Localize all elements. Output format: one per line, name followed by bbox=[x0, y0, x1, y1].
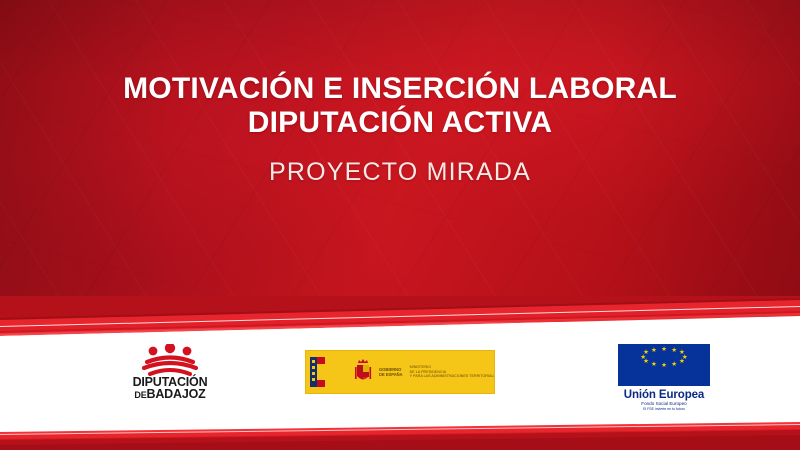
badajoz-label-line-2: DEBADAJOZ bbox=[122, 389, 218, 401]
presentation-slide: MOTIVACIÓN E INSERCIÓN LABORAL DIPUTACIÓ… bbox=[0, 0, 800, 450]
slide-subtitle: PROYECTO MIRADA bbox=[0, 158, 800, 187]
badajoz-label-de: DE bbox=[134, 390, 146, 400]
slide-title-line-1: MOTIVACIÓN E INSERCIÓN LABORAL bbox=[0, 72, 800, 106]
coat-of-arms-icon bbox=[352, 357, 374, 387]
diputacion-de-badajoz-logo: DIPUTACIÓN DEBADAJOZ bbox=[122, 344, 218, 406]
footer-red-band bbox=[0, 412, 800, 450]
title-block: MOTIVACIÓN E INSERCIÓN LABORAL DIPUTACIÓ… bbox=[0, 72, 800, 187]
eu-logo-tagline: El FSE invierte en tu futuro bbox=[618, 407, 710, 412]
badajoz-label-badajoz: BADAJOZ bbox=[147, 387, 206, 401]
badajoz-figures-icon bbox=[122, 344, 218, 376]
ministerio-block: MINISTERIO DE LA PRESIDENCIA Y PARA LAS … bbox=[410, 365, 495, 379]
eu-flag-icon: ★ ★ ★ ★ ★ ★ ★ ★ ★ ★ ★ ★ bbox=[618, 342, 710, 386]
gobierno-de-espana-logo: GOBIERNO DE ESPAÑA MINISTERIO DE LA PRES… bbox=[305, 350, 495, 394]
diagonal-stripe-divider bbox=[0, 296, 800, 344]
slide-title-line-2: DIPUTACIÓN ACTIVA bbox=[0, 106, 800, 140]
gobierno-block: GOBIERNO DE ESPAÑA bbox=[379, 367, 403, 377]
gobierno-line-2: DE ESPAÑA bbox=[379, 372, 403, 377]
eu-logo-title: Unión Europea bbox=[618, 389, 710, 401]
union-europea-logo: ★ ★ ★ ★ ★ ★ ★ ★ ★ ★ ★ ★ Unión Europea Fo… bbox=[618, 342, 710, 410]
gobierno-text-group: GOBIERNO DE ESPAÑA MINISTERIO DE LA PRES… bbox=[374, 365, 494, 379]
ministerio-line-3: Y PARA LAS ADMINISTRACIONES TERRITORIALE… bbox=[410, 374, 495, 379]
spanish-flag-icon bbox=[310, 357, 350, 387]
